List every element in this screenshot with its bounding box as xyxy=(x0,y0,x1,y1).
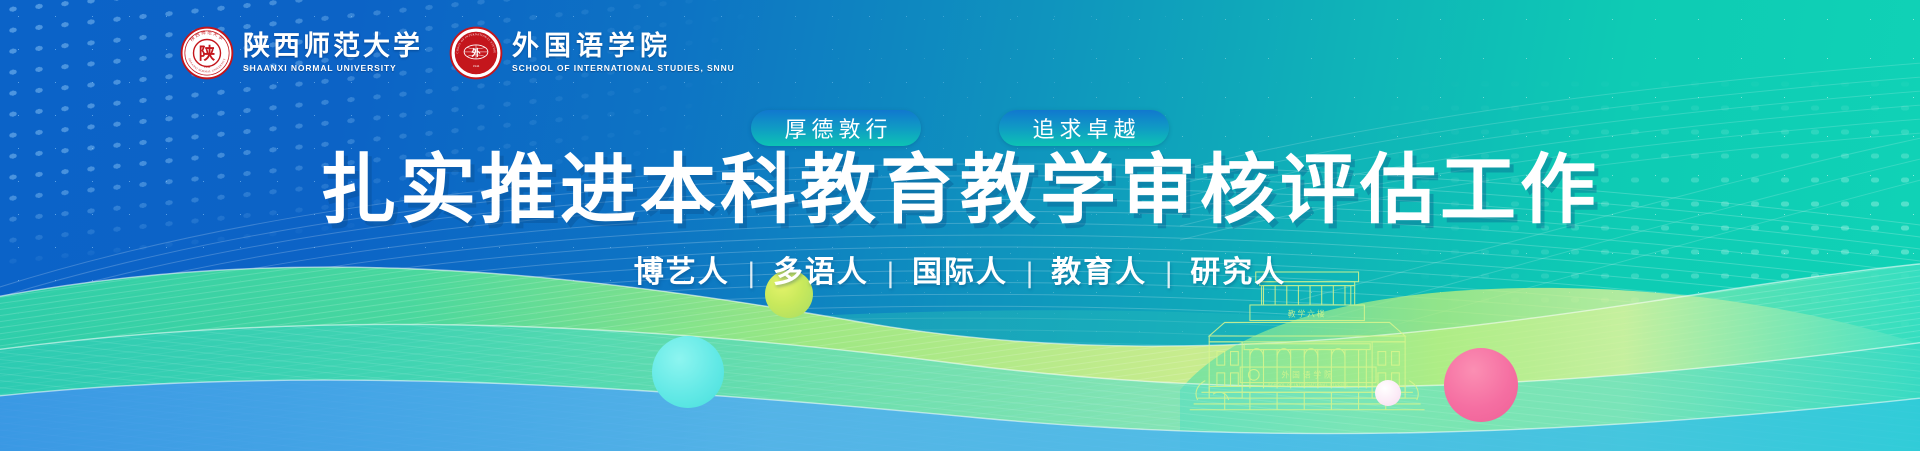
snnu-seal-center-char: 陕 xyxy=(199,44,216,63)
sis-seal-year: 1944 xyxy=(473,64,480,68)
snnu-seal-icon: 陕 陕西师范大学 SHAANXI NORMAL UNIVERSITY 1944 xyxy=(180,26,234,80)
slogan-badge-group: 厚德敦行 追求卓越 xyxy=(0,110,1920,146)
subtitle-segment-2: 多语人 xyxy=(756,258,886,288)
snnu-wordmark: 陕西师范大学 SHAANXI NORMAL UNIVERSITY xyxy=(243,33,423,73)
banner-subtitle: 博艺人 | 多语人 | 国际人 | 教育人 | 研究人 xyxy=(0,258,1920,288)
subtitle-separator: | xyxy=(1025,260,1034,287)
subtitle-separator: | xyxy=(747,260,756,287)
snnu-seal-year: 1944 xyxy=(204,65,211,69)
sis-seal-icon: 外 SCHOOL OF INTERNATIONAL STUDIES 1944 xyxy=(449,26,503,80)
subtitle-segment-1: 博艺人 xyxy=(617,258,747,288)
building-main-sign-cn: 外国语学院 xyxy=(1281,370,1334,380)
subtitle-segment-4: 教育人 xyxy=(1034,258,1164,288)
subtitle-separator: | xyxy=(1164,260,1173,287)
decorative-orb-cyan xyxy=(652,336,724,408)
banner-headline: 扎实推进本科教育教学审核评估工作 xyxy=(0,152,1920,228)
slogan-badge-2: 追求卓越 xyxy=(999,110,1169,146)
sis-name-cn: 外国语学院 xyxy=(512,33,735,60)
subtitle-separator: | xyxy=(886,260,895,287)
banner-root: 教学六楼 外国语学院 SCHOOL OF INTERNATIONAL STUDI… xyxy=(0,0,1920,451)
sis-name-en: SCHOOL OF INTERNATIONAL STUDIES, SNNU xyxy=(512,63,735,73)
subtitle-segment-5: 研究人 xyxy=(1173,258,1303,288)
sis-seal-center-char: 外 xyxy=(470,47,481,59)
decorative-orb-pink xyxy=(1444,348,1518,422)
decorative-orb-white xyxy=(1375,380,1401,406)
logo-school-of-international-studies[interactable]: 外 SCHOOL OF INTERNATIONAL STUDIES 1944 外… xyxy=(449,26,735,80)
logo-lockup-group: 陕 陕西师范大学 SHAANXI NORMAL UNIVERSITY 1944 … xyxy=(180,26,735,80)
slogan-badge-1: 厚德敦行 xyxy=(751,110,921,146)
building-top-sign: 教学六楼 xyxy=(1288,309,1327,319)
subtitle-segment-3: 国际人 xyxy=(895,258,1025,288)
snnu-name-en: SHAANXI NORMAL UNIVERSITY xyxy=(243,63,423,73)
logo-shaanxi-normal-university[interactable]: 陕 陕西师范大学 SHAANXI NORMAL UNIVERSITY 1944 … xyxy=(180,26,423,80)
snnu-name-cn: 陕西师范大学 xyxy=(243,33,423,60)
sis-wordmark: 外国语学院 SCHOOL OF INTERNATIONAL STUDIES, S… xyxy=(512,33,735,73)
